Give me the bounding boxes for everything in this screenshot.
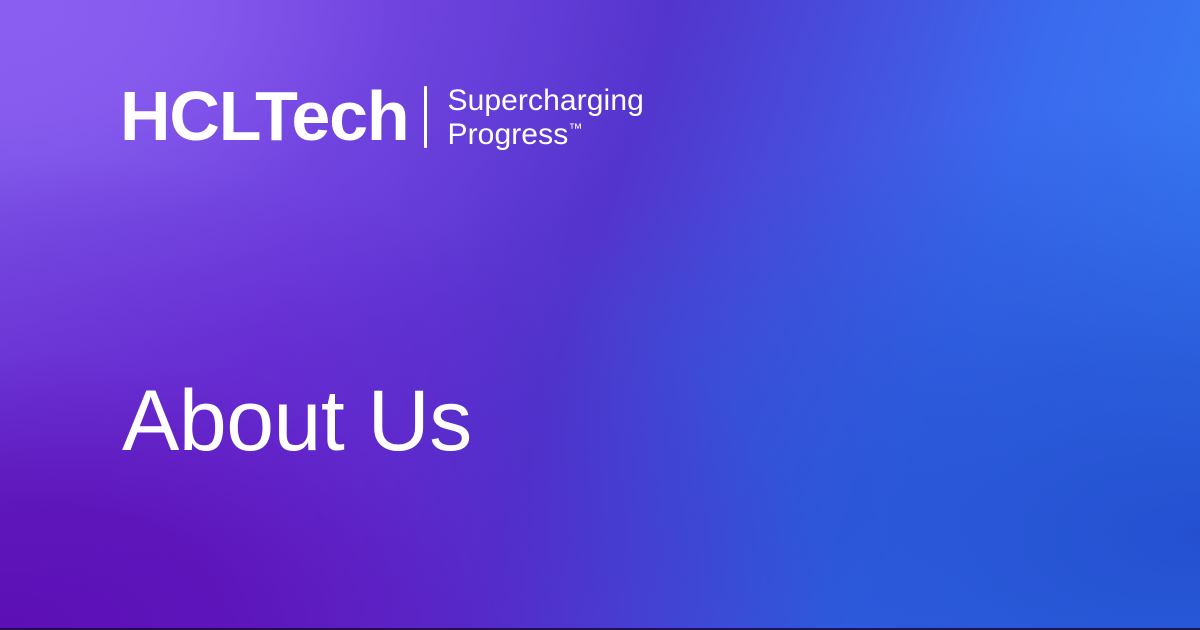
brand-tagline: Supercharging Progress™ — [447, 84, 643, 152]
logo-divider — [424, 86, 427, 148]
hero-banner: HCLTech Supercharging Progress™ About Us — [0, 0, 1200, 630]
brand-logo-lockup[interactable]: HCLTech Supercharging Progress™ — [120, 82, 644, 152]
page-title: About Us — [122, 373, 472, 469]
hcltech-wordmark: HCLTech — [120, 82, 408, 150]
tagline-line-1: Supercharging — [447, 84, 643, 118]
trademark-icon: ™ — [568, 120, 582, 136]
tagline-line-2: Progress — [447, 118, 568, 151]
tagline-line-2-wrap: Progress™ — [447, 118, 643, 152]
